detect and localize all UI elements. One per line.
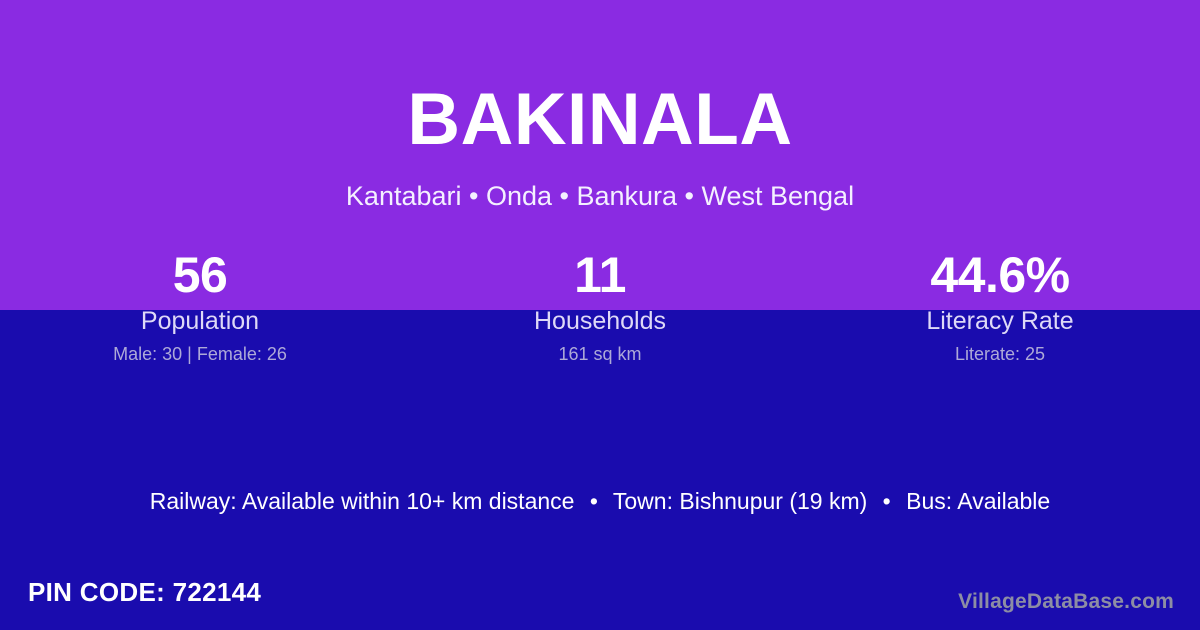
stat-sublabel: 161 sq km [400,343,800,365]
pin-code: PIN CODE: 722144 [28,575,261,609]
stat-literacy-rate: 44.6% Literacy Rate Literate: 25 [800,248,1200,365]
card-footer: PIN CODE: 722144 VillageDataBase.com [0,575,1200,630]
transport-railway: Railway: Available within 10+ km distanc… [150,488,575,514]
stat-sublabel: Literate: 25 [800,343,1200,365]
stat-label: Literacy Rate [800,306,1200,336]
transport-town: Town: Bishnupur (19 km) [613,488,867,514]
stat-sublabel: Male: 30 | Female: 26 [0,343,400,365]
bullet-separator-icon: • [874,488,900,514]
page-title: BAKINALA [0,83,1200,156]
transport-info-line: Railway: Available within 10+ km distanc… [0,487,1200,515]
bullet-separator-icon: • [581,488,607,514]
stat-population: 56 Population Male: 30 | Female: 26 [0,248,400,365]
stat-households: 11 Households 161 sq km [400,248,800,365]
stat-value: 56 [0,248,400,303]
stat-value: 44.6% [800,248,1200,303]
stat-label: Population [0,306,400,336]
site-watermark: VillageDataBase.com [958,589,1174,615]
breadcrumb: Kantabari • Onda • Bankura • West Bengal [0,183,1200,210]
stat-label: Households [400,306,800,336]
stat-value: 11 [400,248,800,303]
transport-bus: Bus: Available [906,488,1050,514]
village-info-card: BAKINALA Kantabari • Onda • Bankura • We… [0,0,1200,630]
stats-row: 56 Population Male: 30 | Female: 26 11 H… [0,248,1200,365]
